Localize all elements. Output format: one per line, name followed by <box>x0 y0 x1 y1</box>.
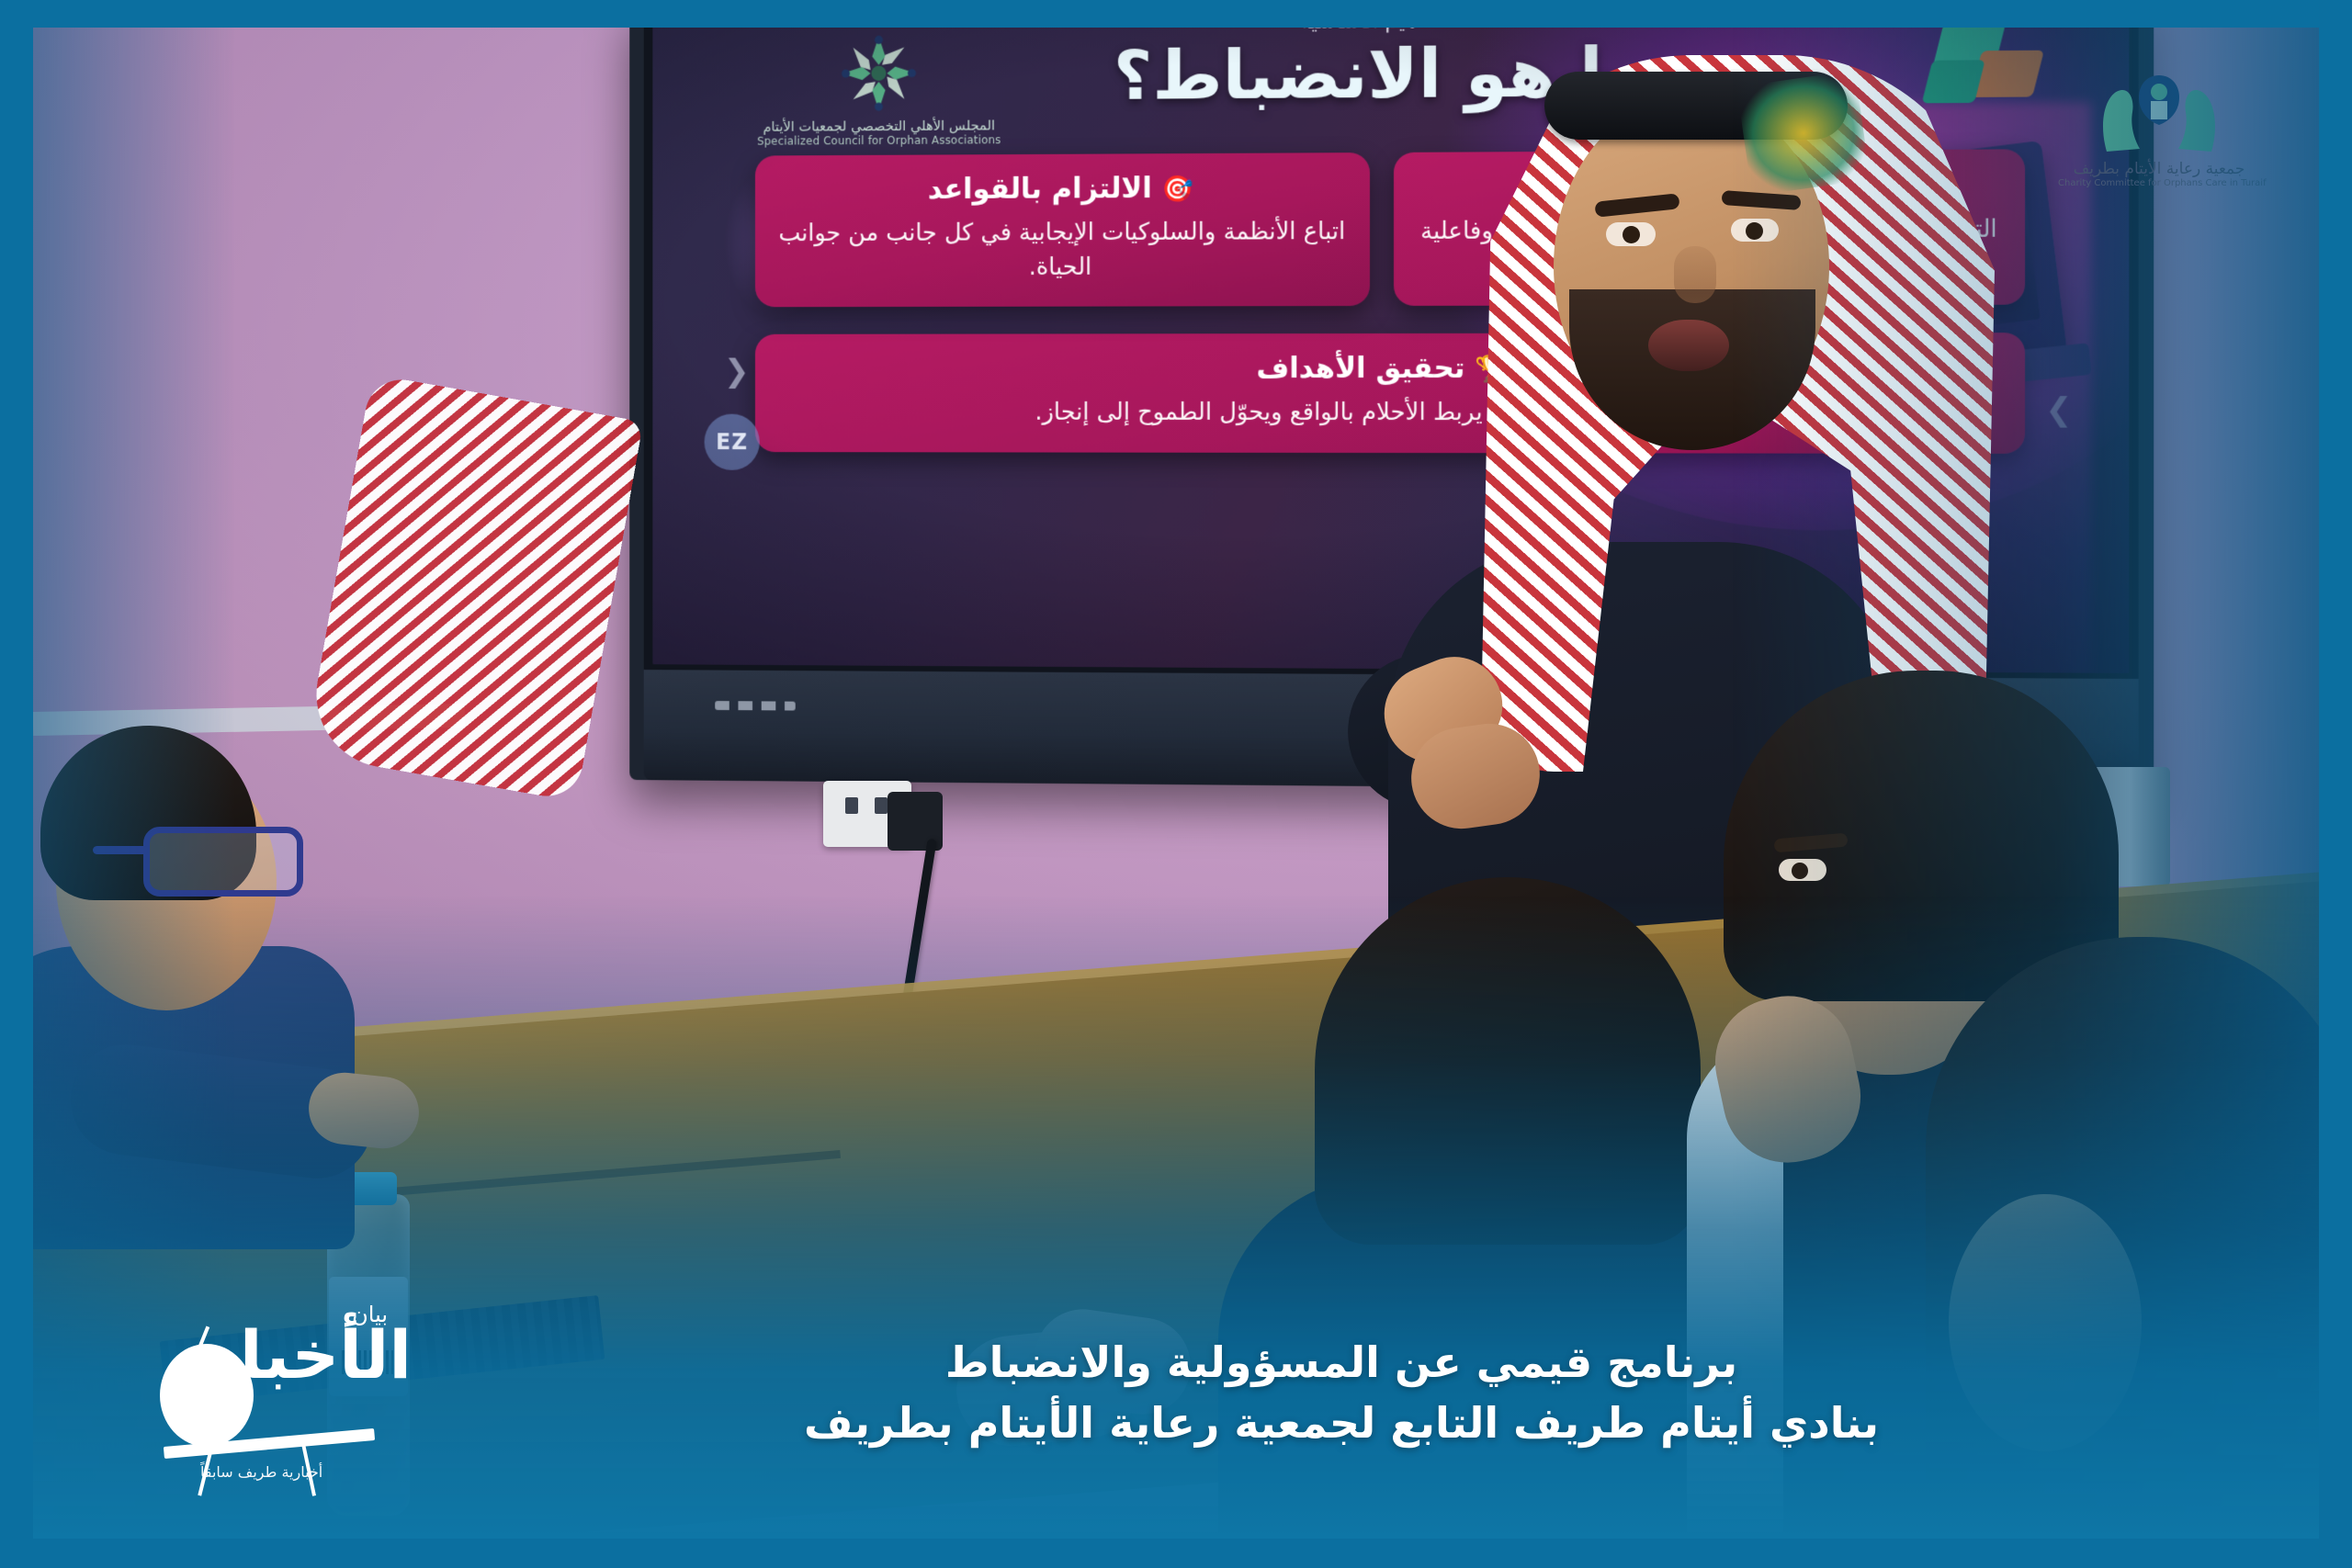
news-outlet-logo: بيان الأخبار أخبارية طريف سابقاً <box>143 1291 419 1465</box>
presenter-eye-left <box>1606 222 1656 246</box>
speaker-grill <box>715 701 796 710</box>
caption-line-2: بنادي أيتام طريف التابع لجمعية رعاية الأ… <box>474 1393 2209 1454</box>
photo-caption: برنامج قيمي عن المسؤولية والانضباط بنادي… <box>474 1332 2209 1454</box>
caption-line-1: برنامج قيمي عن المسؤولية والانضباط <box>474 1332 2209 1393</box>
photo-canvas: المجلس الأهلي التخصصي لجمعيات الأيتام Sp… <box>33 28 2319 1539</box>
news-logo-tagline: أخبارية طريف سابقاً <box>200 1463 322 1481</box>
news-logo-circle <box>160 1344 254 1447</box>
photo-frame: المجلس الأهلي التخصصي لجمعيات الأيتام Sp… <box>0 0 2352 1568</box>
presenter-nose <box>1674 246 1716 303</box>
presenter-mouth <box>1648 320 1729 371</box>
